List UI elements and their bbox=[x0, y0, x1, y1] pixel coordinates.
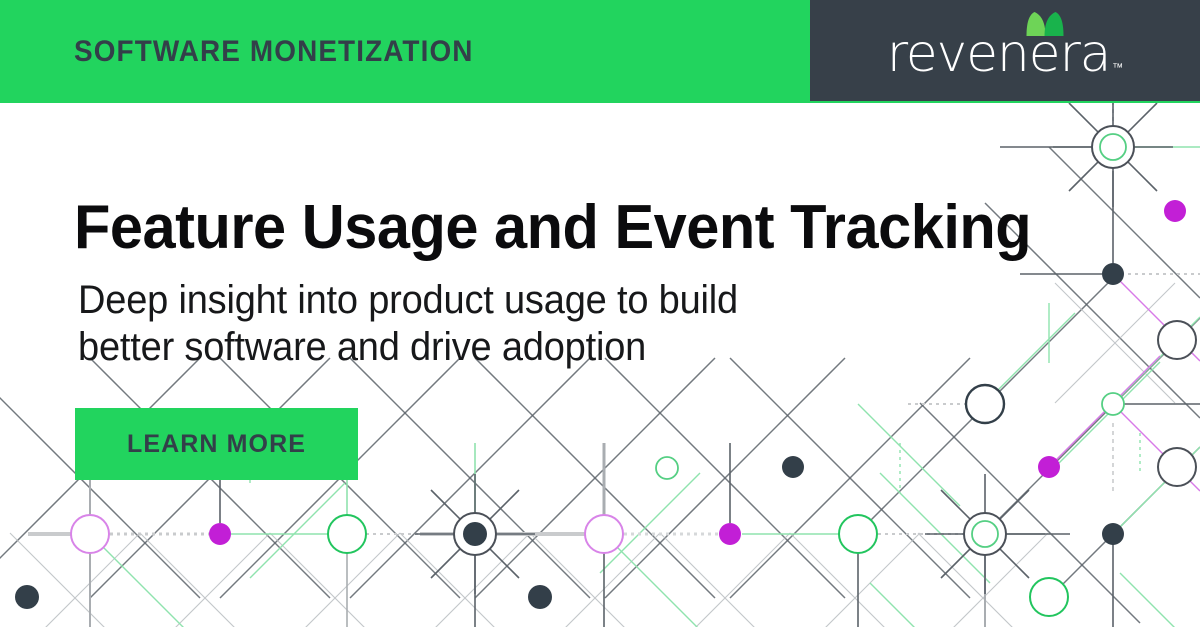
page-title: Feature Usage and Event Tracking bbox=[74, 196, 1015, 259]
page-subtitle: Deep insight into product usage to build… bbox=[78, 277, 1005, 371]
node-starburst-top-right bbox=[1053, 103, 1173, 207]
node-starburst-mid bbox=[415, 474, 535, 594]
marketing-banner: SOFTWARE MONETIZATION revenera ™ Feature… bbox=[0, 0, 1200, 627]
eyebrow-label: SOFTWARE MONETIZATION bbox=[74, 35, 474, 69]
revenera-logo[interactable]: revenera ™ bbox=[887, 28, 1124, 80]
learn-more-button[interactable]: LEARN MORE bbox=[75, 408, 358, 480]
eyebrow-panel: SOFTWARE MONETIZATION bbox=[0, 0, 810, 103]
subtitle-line-2: better software and drive adoption bbox=[78, 324, 1005, 371]
logo-wordmark: revenera bbox=[887, 28, 1111, 80]
subtitle-line-1: Deep insight into product usage to build bbox=[78, 277, 1005, 324]
learn-more-label: LEARN MORE bbox=[127, 430, 306, 459]
logo-panel: revenera ™ bbox=[810, 0, 1200, 103]
node-starburst-bottom-right bbox=[925, 474, 1045, 594]
trademark-symbol: ™ bbox=[1112, 62, 1123, 74]
banner-header: SOFTWARE MONETIZATION revenera ™ bbox=[0, 0, 1200, 103]
banner-content: Feature Usage and Event Tracking Deep in… bbox=[74, 196, 1054, 372]
leaf-fan-icon bbox=[1026, 12, 1064, 36]
